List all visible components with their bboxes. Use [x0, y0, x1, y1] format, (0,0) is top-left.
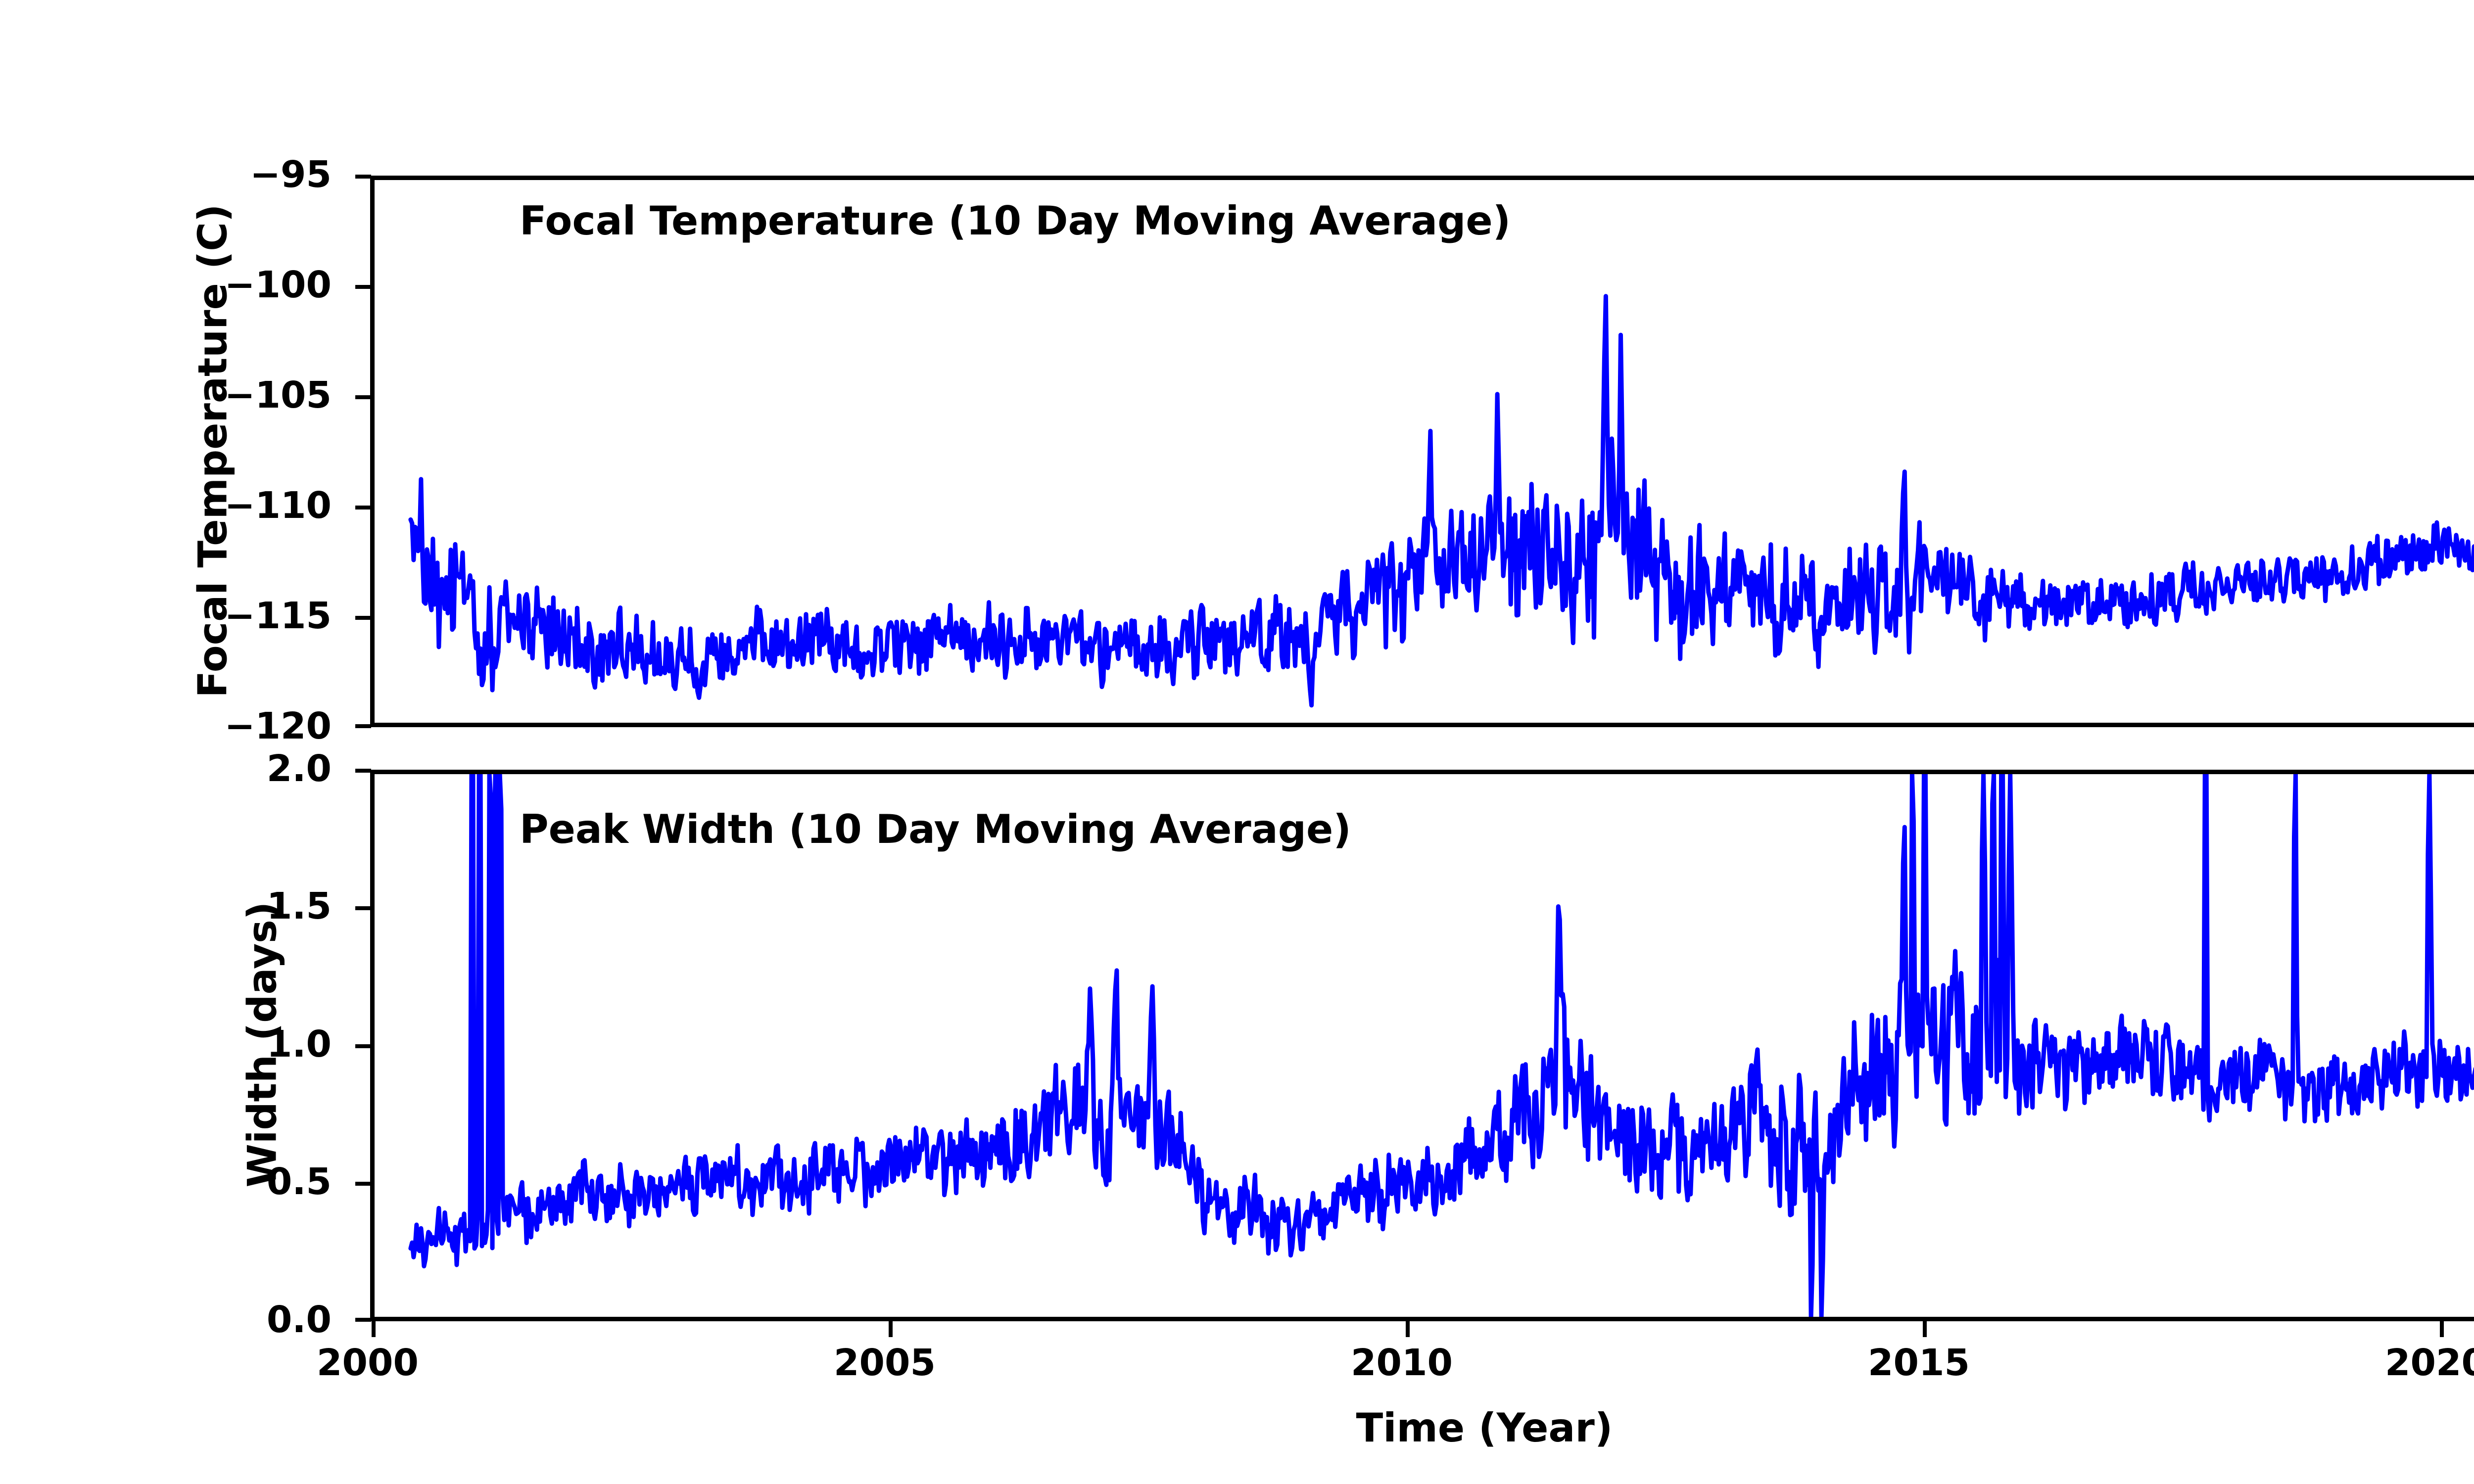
xtick-mark-2: [1406, 1321, 1410, 1337]
peak-width-line: [411, 774, 2474, 1317]
xtick-label-1: 2005: [834, 1342, 936, 1384]
ytick-mark-top-4: [355, 616, 371, 620]
ytick-mark-top-3: [355, 506, 371, 510]
ytick-mark-bot-3: [355, 906, 371, 910]
xtick-label-3: 2015: [1868, 1342, 1970, 1384]
focal-temperature-plot-area: [375, 180, 2474, 723]
ytick-mark-top-0: [355, 175, 371, 179]
focal-temperature-line: [411, 296, 2474, 705]
axes-focal-temperature: [370, 176, 2474, 727]
ytick-mark-top-5: [355, 724, 371, 728]
xtick-mark-3: [1923, 1321, 1927, 1337]
xtick-mark-4: [2440, 1321, 2444, 1337]
figure-canvas: Focal Temperature (10 Day Moving Average…: [0, 0, 2474, 1484]
xtick-mark-1: [889, 1321, 893, 1337]
xtick-label-4: 2020: [2385, 1342, 2474, 1384]
ytick-label-top-2: −105: [225, 374, 332, 417]
ytick-mark-bot-1: [355, 1182, 371, 1186]
peak-width-plot-area: [375, 774, 2474, 1317]
ytick-label-bot-0: 0.0: [267, 1298, 332, 1341]
ytick-label-top-4: −115: [225, 595, 332, 637]
ytick-mark-top-1: [355, 285, 371, 289]
xtick-label-0: 2000: [317, 1342, 419, 1384]
xaxis-label-time: Time (Year): [0, 1405, 2474, 1451]
yaxis-label-focal-temperature: Focal Temperature (C): [190, 179, 236, 723]
ytick-label-top-5: −120: [225, 705, 332, 747]
ytick-mark-bot-4: [355, 769, 371, 773]
ytick-label-top-1: −100: [225, 264, 332, 306]
ytick-label-bot-4: 2.0: [267, 747, 332, 790]
axes-peak-width: [370, 770, 2474, 1321]
ytick-label-top-0: −95: [250, 153, 332, 196]
panel-title-focal-temperature: Focal Temperature (10 Day Moving Average…: [520, 198, 1511, 244]
ytick-mark-bot-0: [355, 1318, 371, 1322]
ytick-mark-top-2: [355, 395, 371, 399]
xtick-label-2: 2010: [1351, 1342, 1453, 1384]
ytick-label-top-3: −110: [225, 484, 332, 527]
panel-title-peak-width: Peak Width (10 Day Moving Average): [520, 806, 1351, 852]
xtick-mark-0: [372, 1321, 376, 1337]
ytick-mark-bot-2: [355, 1044, 371, 1048]
yaxis-label-peak-width: Width (days): [239, 822, 285, 1267]
